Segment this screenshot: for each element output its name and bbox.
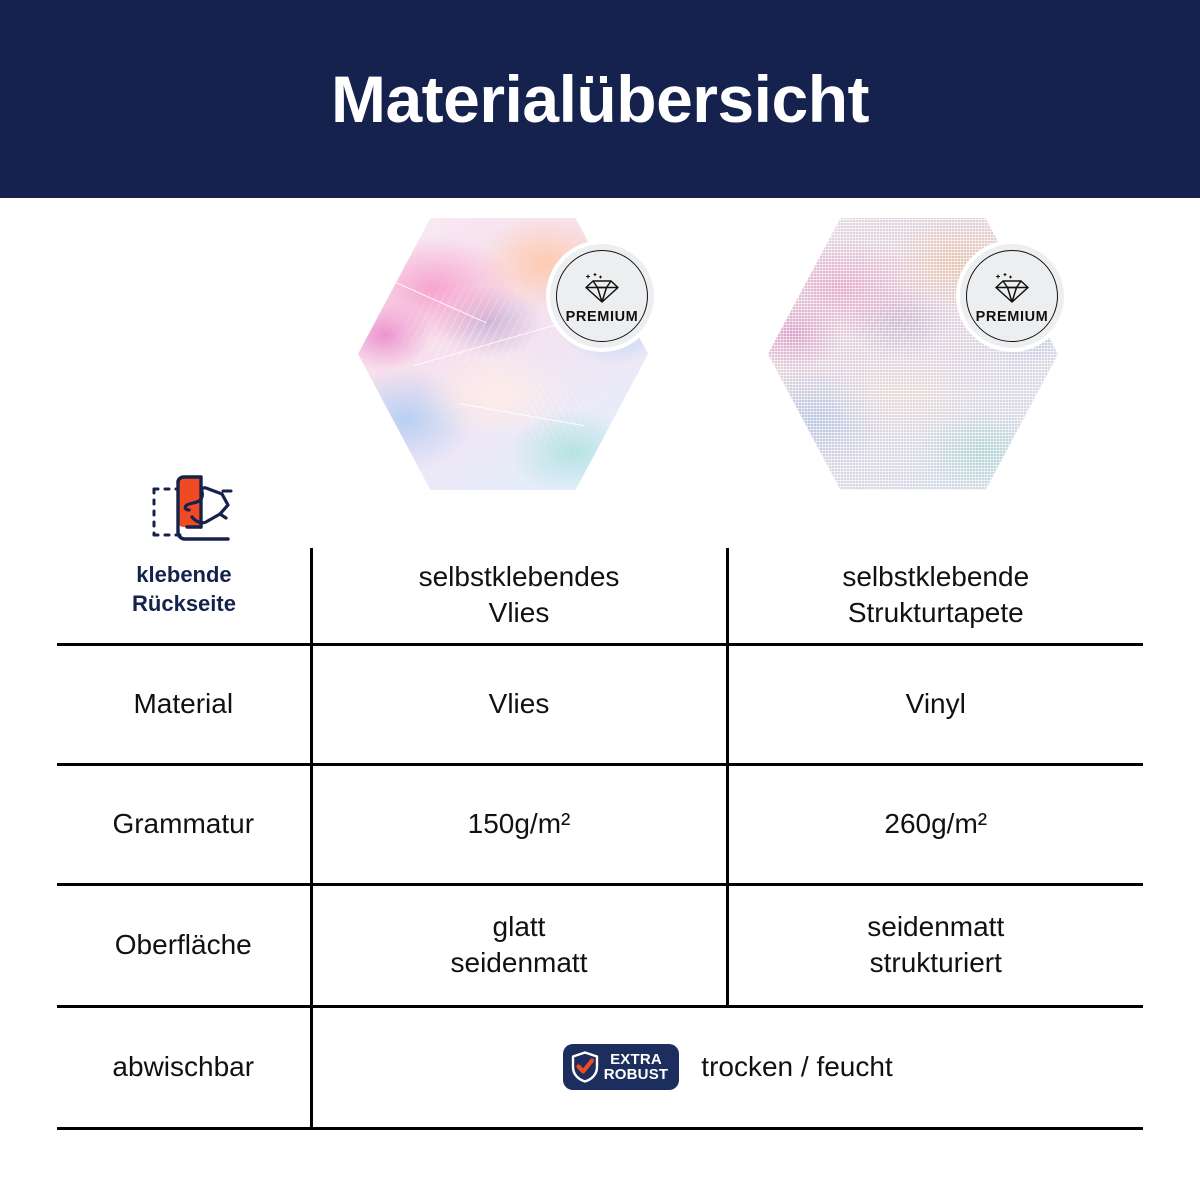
cell-oberflaeche-b-line1: seidenmatt: [739, 909, 1134, 945]
extra-robust-badge: EXTRA ROBUST: [563, 1044, 680, 1090]
table-row-grammatur: Grammatur 150g/m² 260g/m²: [57, 764, 1143, 884]
table-row-material: Material Vlies Vinyl: [57, 644, 1143, 764]
premium-badge: PREMIUM: [550, 244, 654, 348]
table-row-oberflaeche: Oberfläche glatt seidenmatt seidenmatt s…: [57, 884, 1143, 1006]
header-cell-empty: [57, 548, 311, 644]
header-b-line2: Strukturtapete: [739, 595, 1134, 631]
table-row-abwischbar: abwischbar EXTRA ROBUST trocken / feucht: [57, 1006, 1143, 1128]
cell-grammatur-a: 150g/m²: [311, 764, 727, 884]
cell-abwischbar-value: EXTRA ROBUST trocken / feucht: [311, 1006, 1143, 1128]
shield-check-icon: [571, 1051, 599, 1083]
cell-oberflaeche-a-line1: glatt: [323, 909, 716, 945]
page-title: Materialübersicht: [331, 66, 869, 132]
row-label-material: Material: [57, 644, 311, 764]
header-b-line1: selbstklebende: [739, 559, 1134, 595]
row-label-abwischbar: abwischbar: [57, 1006, 311, 1128]
cell-oberflaeche-b-line2: strukturiert: [739, 945, 1134, 981]
extra-robust-label: EXTRA ROBUST: [604, 1052, 669, 1082]
cell-oberflaeche-b: seidenmatt strukturiert: [727, 884, 1143, 1006]
table-header-row: selbstklebendes Vlies selbstklebende Str…: [57, 548, 1143, 644]
material-comparison-table: selbstklebendes Vlies selbstklebende Str…: [57, 548, 1143, 1130]
header-a-line2: Vlies: [323, 595, 716, 631]
badge-ring: [556, 250, 648, 342]
cell-material-b: Vinyl: [727, 644, 1143, 764]
row-label-oberflaeche: Oberfläche: [57, 884, 311, 1006]
abwischbar-value-text: trocken / feucht: [701, 1049, 892, 1085]
cell-oberflaeche-a: glatt seidenmatt: [311, 884, 727, 1006]
header-cell-option-a: selbstklebendes Vlies: [311, 548, 727, 644]
badge-ring: [966, 250, 1058, 342]
header-a-line1: selbstklebendes: [323, 559, 716, 595]
premium-badge: PREMIUM: [960, 244, 1064, 348]
header-banner: Materialübersicht: [0, 0, 1200, 198]
robust-line1: EXTRA: [604, 1052, 669, 1067]
row-label-grammatur: Grammatur: [57, 764, 311, 884]
peel-adhesive-back-icon: [132, 470, 236, 552]
preview-hexagon-strukturtapete: PREMIUM: [768, 218, 1058, 490]
header-cell-option-b: selbstklebende Strukturtapete: [727, 548, 1143, 644]
cell-grammatur-b: 260g/m²: [727, 764, 1143, 884]
preview-hexagon-vlies: PREMIUM: [358, 218, 648, 490]
cell-material-a: Vlies: [311, 644, 727, 764]
robust-line2: ROBUST: [604, 1067, 669, 1082]
cell-oberflaeche-a-line2: seidenmatt: [323, 945, 716, 981]
